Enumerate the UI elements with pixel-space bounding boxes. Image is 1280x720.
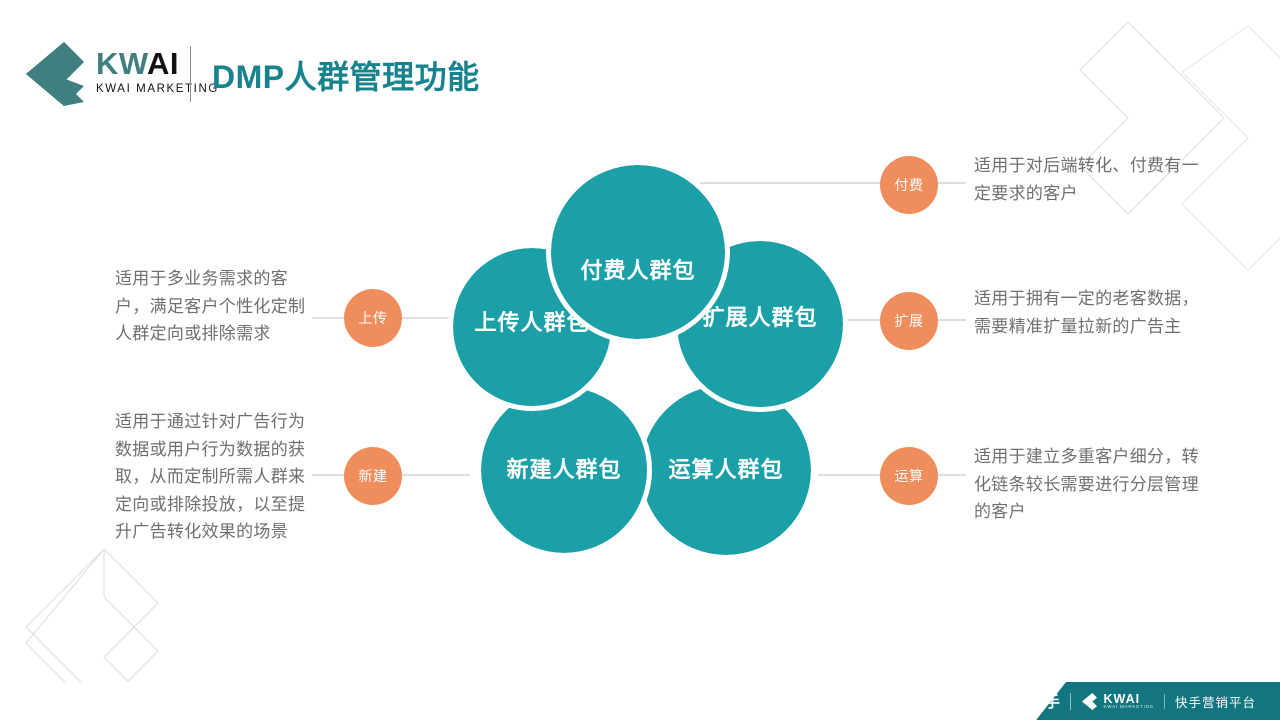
kwai-footer-sub: KWAI MARKETING	[1103, 705, 1154, 710]
badge-new-label: 新建	[359, 466, 388, 486]
description-expand: 适用于拥有一定的老客数据，需要精准扩量拉新的广告主	[974, 285, 1200, 340]
badge-calc-label: 运算	[895, 466, 924, 486]
kuaishou-mark-icon	[1004, 693, 1024, 709]
slide-canvas: KWAI KWAI MARKETING DMP人群管理功能 运算人群包 新建人群…	[0, 0, 1280, 720]
description-calc: 适用于建立多重客户细分，转化链条较长需要进行分层管理的客户	[974, 443, 1200, 526]
footer-divider-1	[1070, 693, 1071, 710]
bubble-pay-label: 付费人群包	[580, 253, 695, 285]
footer-platform-text: 快手营销平台	[1175, 692, 1256, 711]
badge-expand[interactable]: 扩展	[880, 292, 938, 350]
bubble-new-label: 新建人群包	[506, 452, 621, 484]
footer-divider-2	[1164, 694, 1165, 709]
footer-white-cut	[0, 682, 1066, 720]
connector-lines	[0, 0, 1280, 720]
badge-calc[interactable]: 运算	[880, 447, 938, 505]
bubble-pay[interactable]: 付费人群包	[546, 160, 730, 344]
kwai-footer-logo: KWAI KWAI MARKETING	[1081, 692, 1154, 711]
kuaishou-logo: 快手	[1004, 691, 1060, 712]
footer-branding: 快手 KWAI KWAI MARKETING 快手营销平台	[1004, 682, 1256, 720]
badge-pay-label: 付费	[895, 175, 924, 195]
bubble-new[interactable]: 新建人群包	[476, 382, 652, 558]
page-footer: 快手 KWAI KWAI MARKETING 快手营销平台	[0, 682, 1280, 720]
badge-new[interactable]: 新建	[344, 447, 402, 505]
description-upload: 适用于多业务需求的客户，满足客户个性化定制人群定向或排除需求	[115, 265, 315, 348]
kuaishou-name: 快手	[1029, 691, 1060, 712]
badge-upload-label: 上传	[359, 308, 388, 328]
badge-upload[interactable]: 上传	[344, 289, 402, 347]
kwai-chevron-footer-icon	[1081, 692, 1098, 711]
bubble-calc-label: 运算人群包	[668, 452, 783, 484]
description-new: 适用于通过针对广告行为数据或用户行为数据的获取，从而定制所需人群来定向或排除投放…	[115, 408, 315, 546]
dmp-bubble-diagram: 运算人群包 新建人群包 扩展人群包 上传人群包 付费人群包 付费 扩展 运算 上…	[0, 0, 1280, 720]
badge-expand-label: 扩展	[895, 311, 924, 331]
description-pay: 适用于对后端转化、付费有一定要求的客户	[974, 152, 1200, 207]
bubble-expand-label: 扩展人群包	[702, 300, 817, 332]
badge-pay[interactable]: 付费	[880, 156, 938, 214]
